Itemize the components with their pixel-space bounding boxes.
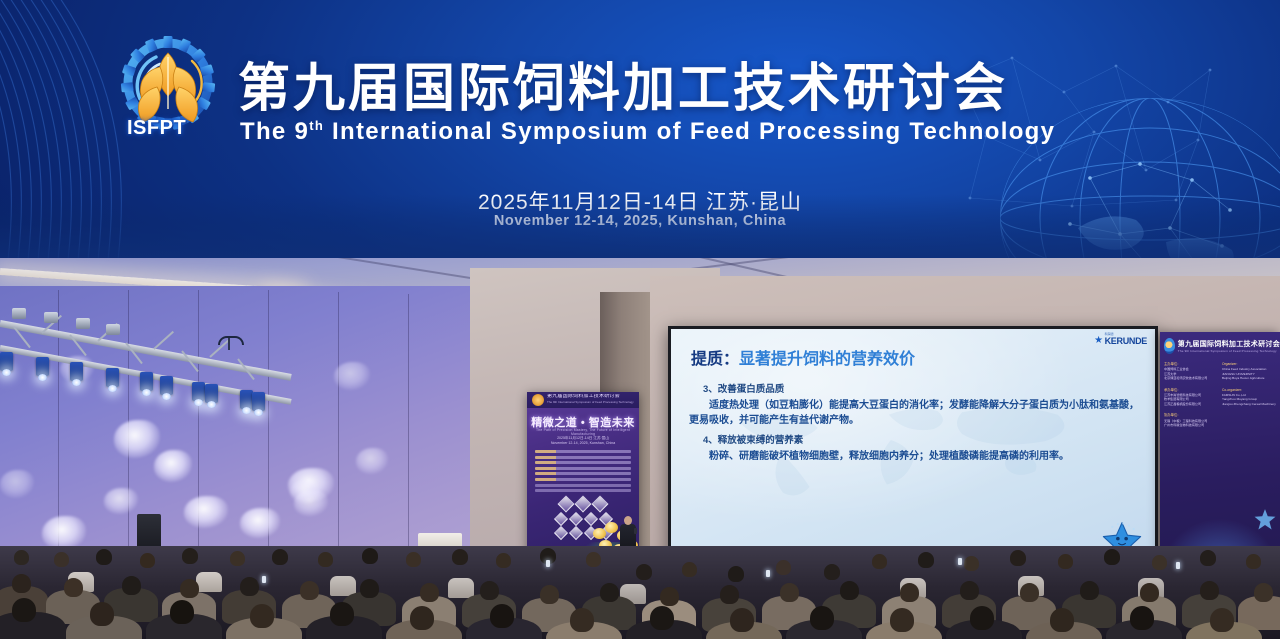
sponsor-group: 协办单位： 无锡（中粮）工程科技有限公司 广州市科脉生物科技有限公司 <box>1164 413 1218 427</box>
header-bottom-fade <box>0 194 1280 258</box>
rollup-banner-org-list <box>535 450 631 495</box>
sponsor-column-cn: 主办单位： 中国饲料工业协会 江苏大学 北京博亚和讯农牧技术有限公司 承办单位：… <box>1164 362 1218 434</box>
sponsor-column-en: Organizer: China Feed Industry Associati… <box>1222 362 1276 434</box>
audience-head <box>410 606 434 630</box>
moving-head-light <box>192 382 205 401</box>
audience-head <box>1200 581 1219 600</box>
audience-head <box>122 576 141 595</box>
audience-head <box>362 548 378 564</box>
wall-panel-seam <box>198 290 199 590</box>
sponsor-name-en: Beijing Boya Hexun Agriculture <box>1222 376 1276 380</box>
audience-head <box>406 552 421 567</box>
audience-head <box>1140 583 1159 602</box>
star-icon <box>1095 336 1103 344</box>
chair <box>448 578 474 598</box>
audience-head <box>496 553 511 568</box>
audience-head <box>12 598 36 622</box>
audience-head <box>300 581 319 600</box>
audience-head <box>90 602 114 626</box>
moving-head-light <box>0 352 13 371</box>
moving-head-light <box>160 376 173 395</box>
sponsor-group-en: Co-organizer: FAMSUN Co.,Ltd Yangzhou Mu… <box>1222 388 1276 407</box>
phone-screen <box>958 558 962 565</box>
sponsor-group-label: 承办单位： <box>1164 388 1218 392</box>
slide-item-4-body: 粉碎、研磨能破坏植物细胞壁，释放细胞内养分；处理植酸磷能提高磷的利用率。 <box>689 449 1141 464</box>
audience-head <box>1210 608 1234 632</box>
audience-head <box>900 583 919 602</box>
event-title-en-pre: The 9 <box>240 118 309 145</box>
audience-head <box>180 579 199 598</box>
audience-head <box>250 604 274 628</box>
audience-head <box>728 566 744 582</box>
kerunde-brand-logo: 科润德 KERUNDE <box>1095 333 1147 346</box>
par-light <box>12 308 26 319</box>
slide-item-4-heading: 4、释放被束缚的营养素 <box>703 432 1141 446</box>
phone-screen <box>546 560 550 567</box>
sponsor-banner-right: 第九届国际饲料加工技术研讨会 The 9th International Sym… <box>1160 332 1280 570</box>
audience-head <box>824 564 840 580</box>
audience-head <box>360 579 379 598</box>
audience-head <box>586 552 601 567</box>
audience-head <box>490 604 514 628</box>
slide-item-3-body: 适度热处理（如豆粕膨化）能提高大豆蛋白的消化率；发酵能降解大分子蛋白质为小肽和氨… <box>689 398 1141 428</box>
sponsor-name: 广州市科脉生物科技有限公司 <box>1164 423 1218 427</box>
rollup-banner-title-en: The 9th International Symposium of Feed … <box>547 400 635 404</box>
sponsor-banner-title-en: The 9th International Symposium of Feed … <box>1178 349 1280 353</box>
sponsor-name: 北京博亚和讯农牧技术有限公司 <box>1164 376 1218 380</box>
audience-head <box>960 581 979 600</box>
chair <box>196 572 222 592</box>
audience-head <box>240 577 259 596</box>
audience-head <box>730 608 754 632</box>
sponsor-group: 主办单位： 中国饲料工业协会 江苏大学 北京博亚和讯农牧技术有限公司 <box>1164 362 1218 381</box>
par-light <box>44 312 58 323</box>
audience-head <box>1200 550 1216 566</box>
audience-head <box>54 552 69 567</box>
audience-head <box>1058 554 1073 569</box>
sponsor-name-en: Jiangsu Zhengchang Cereal Machinery <box>1222 402 1276 406</box>
phone-screen <box>1176 562 1180 569</box>
audience-head <box>660 587 679 606</box>
audience-head <box>636 564 652 580</box>
slide-title-rest: 显著提升饲料的营养效价 <box>739 351 915 368</box>
audience-head <box>272 549 288 565</box>
audience-head <box>230 551 245 566</box>
moving-head-light <box>106 368 119 387</box>
audience-head <box>650 606 674 630</box>
wall-panel-seam <box>268 290 269 590</box>
slide-content: 科润德 KERUNDE 提质：显著提升饲料的营养效价 3、改善蛋白质品质 适度热… <box>671 329 1155 566</box>
audience-head <box>540 585 559 604</box>
sponsor-banner-columns: 主办单位： 中国饲料工业协会 江苏大学 北京博亚和讯农牧技术有限公司 承办单位：… <box>1164 362 1276 434</box>
audience-head <box>964 556 979 571</box>
audience-head <box>1010 550 1026 566</box>
sponsor-name: 江苏正昌粮机股份有限公司 <box>1164 402 1218 406</box>
slide-title-prefix: 提质 <box>691 351 723 368</box>
audience-head <box>570 608 594 632</box>
moving-head-light <box>205 384 218 403</box>
audience-head <box>600 583 619 602</box>
sponsor-banner-header: 第九届国际饲料加工技术研讨会 The 9th International Sym… <box>1160 338 1280 354</box>
audience-head <box>840 581 859 600</box>
audience-head <box>14 550 29 565</box>
moving-head-light <box>252 392 265 411</box>
kerunde-brand-word: KERUNDE <box>1105 336 1147 346</box>
rollup-banner-title: 第九届国际饲料加工技术研讨会 <box>547 394 635 399</box>
phone-screen <box>262 576 266 583</box>
audience-head <box>780 583 799 602</box>
audience-head <box>318 552 333 567</box>
sponsor-group-label-en: Co-organizer: <box>1222 388 1276 392</box>
microphone-icon <box>634 528 637 534</box>
slide-title-separator: ： <box>723 351 739 368</box>
rigging-hook <box>218 336 244 345</box>
audience-head <box>140 553 155 568</box>
audience-head <box>918 552 934 568</box>
audience-head <box>1050 608 1074 632</box>
audience-head <box>872 554 887 569</box>
slide-item-3-heading: 3、改善蛋白质品质 <box>703 381 1141 395</box>
audience-head <box>1246 554 1261 569</box>
audience-head <box>970 606 994 630</box>
event-title-en-post: International Symposium of Feed Processi… <box>324 118 1055 145</box>
audience-head <box>890 608 914 632</box>
audience-head <box>776 560 791 575</box>
audience-head <box>720 585 739 604</box>
moving-head-light <box>36 357 49 376</box>
slide-title: 提质：显著提升饲料的营养效价 <box>691 345 915 369</box>
audience-head <box>810 606 834 630</box>
audience-head <box>480 581 499 600</box>
audience-head <box>330 602 354 626</box>
isfpt-acronym: ISFPT <box>127 117 186 140</box>
sponsor-banner-title: 第九届国际饲料加工技术研讨会 <box>1178 339 1280 349</box>
audience-head <box>682 562 697 577</box>
rollup-banner-date-en: November 12-14, 2025, Kunshan, China <box>527 441 639 446</box>
isfpt-logo-icon <box>1164 338 1175 354</box>
moving-head-light <box>140 372 153 391</box>
rollup-banner-slogan-en: The Path of Precision Mastery, The Futur… <box>527 428 639 436</box>
audience-head <box>1254 583 1273 602</box>
isfpt-logo-icon <box>532 394 544 406</box>
ordinal-suffix: th <box>309 118 324 133</box>
audience-head <box>1152 555 1167 570</box>
audience-head <box>452 549 468 565</box>
rollup-banner-date: 2025年11月12日-14日 江苏·昆山 November 12-14, 20… <box>527 436 639 446</box>
audience-head <box>1130 606 1154 630</box>
presenter-head <box>624 516 632 525</box>
audience-head <box>182 548 198 564</box>
audience-head <box>170 600 194 624</box>
audience-head <box>1020 583 1039 602</box>
audience-head <box>12 574 31 593</box>
conference-photo-with-banner: 第九届国际饲料加工技术研讨会 The 9th International Sym… <box>0 0 1280 639</box>
sponsor-group-label: 协办单位： <box>1164 413 1218 417</box>
sponsor-group-en: Organizer: China Feed Industry Associati… <box>1222 362 1276 381</box>
sponsor-group-label-en: Organizer: <box>1222 362 1276 366</box>
event-title-en: The 9th International Symposium of Feed … <box>240 118 1055 146</box>
sponsor-group-label: 主办单位： <box>1164 362 1218 366</box>
par-light <box>106 324 120 335</box>
audience <box>0 546 1280 639</box>
audience-head <box>1104 549 1120 565</box>
audience-head <box>420 583 439 602</box>
par-light <box>76 318 90 329</box>
moving-head-light <box>70 362 83 381</box>
slide-body: 3、改善蛋白质品质 适度热处理（如豆粕膨化）能提高大豆蛋白的消化率；发酵能降解大… <box>689 381 1141 468</box>
event-title-cn: 第九届国际饲料加工技术研讨会 <box>238 46 1008 121</box>
event-header-banner: ISFPT 第九届国际饲料加工技术研讨会 The 9th Internation… <box>0 0 1280 258</box>
phone-screen <box>766 570 770 577</box>
projection-screen: 科润德 KERUNDE 提质：显著提升饲料的营养效价 3、改善蛋白质品质 适度热… <box>668 326 1158 569</box>
sponsor-group: 承办单位： 江苏丰尚智能科技有限公司 牧羊集团有限公司 江苏正昌粮机股份有限公司 <box>1164 388 1218 407</box>
audience-head <box>1080 581 1099 600</box>
audience-head <box>64 578 83 597</box>
audience-head <box>96 549 112 565</box>
